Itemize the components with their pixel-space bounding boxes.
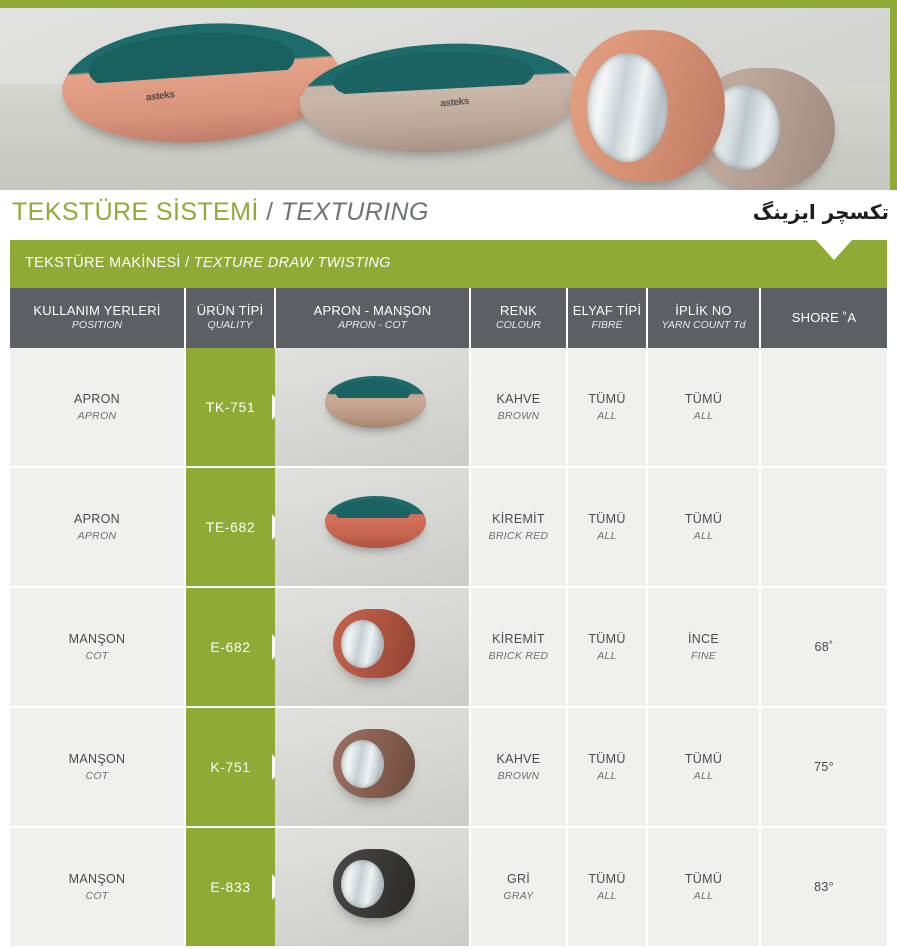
table-row: MANŞON COT E-682 KİREMİT BRIC xyxy=(10,587,887,707)
page-title-farsi: تکسچر ایزینگ xyxy=(753,200,889,224)
page-title-en: TEXTURING xyxy=(281,198,429,226)
column-header-shore-a: SHORE ˚A xyxy=(760,288,887,348)
hero-cot-roller-salmon xyxy=(570,30,725,182)
page-title-separator: / xyxy=(266,198,273,226)
cell-quality: K-751 xyxy=(185,707,275,827)
cell-colour: KİREMİT BRICK RED xyxy=(470,467,567,587)
cell-yarn-count: İNCE FINE xyxy=(647,587,760,707)
title-row: TEKSTÜRE SİSTEMİ / TEXTURING تکسچر ایزین… xyxy=(0,190,897,240)
cell-position: MANŞON COT xyxy=(10,707,185,827)
cell-fibre: TÜMÜ ALL xyxy=(567,587,647,707)
hero-banner: asteks asteks xyxy=(0,8,897,190)
cell-fibre: TÜMÜ ALL xyxy=(567,348,647,467)
apron-belt-brick-red-image xyxy=(325,496,426,548)
cell-product-image xyxy=(275,827,470,946)
hero-apron-belt-taupe: asteks xyxy=(297,37,582,160)
subtitle-bar: TEKSTÜRE MAKİNESİ / TEXTURE DRAW TWISTIN… xyxy=(10,240,887,288)
cell-quality: E-833 xyxy=(185,827,275,946)
cell-colour: GRİ GRAY xyxy=(470,827,567,946)
apron-belt-brown-image xyxy=(325,376,426,428)
cot-roller-gray-image xyxy=(333,849,414,917)
cell-shore-a: 83° xyxy=(760,827,887,946)
cell-fibre: TÜMÜ ALL xyxy=(567,707,647,827)
cot-roller-brick-red-image xyxy=(333,609,414,677)
cell-yarn-count: TÜMÜ ALL xyxy=(647,707,760,827)
cell-fibre: TÜMÜ ALL xyxy=(567,467,647,587)
subtitle-tr: TEKSTÜRE MAKİNESİ xyxy=(25,255,181,271)
subtitle-separator: / xyxy=(185,255,189,271)
table-row: MANŞON COT E-833 GRİ GRAY xyxy=(10,827,887,946)
column-header-apron-cot: APRON - MANŞON APRON - COT xyxy=(275,288,470,348)
cell-yarn-count: TÜMÜ ALL xyxy=(647,827,760,946)
product-specification-table: KULLANIM YERLERİ POSITION ÜRÜN TİPİ QUAL… xyxy=(10,288,887,946)
cell-position: APRON APRON xyxy=(10,467,185,587)
table-row: APRON APRON TK-751 KAHVE xyxy=(10,348,887,467)
cell-colour: KİREMİT BRICK RED xyxy=(470,587,567,707)
column-header-position: KULLANIM YERLERİ POSITION xyxy=(10,288,185,348)
cell-fibre: TÜMÜ ALL xyxy=(567,827,647,946)
page-title: TEKSTÜRE SİSTEMİ / TEXTURING xyxy=(12,198,429,227)
cell-colour: KAHVE BROWN xyxy=(470,348,567,467)
cell-position: MANŞON COT xyxy=(10,827,185,946)
cell-product-image xyxy=(275,348,470,467)
column-header-yarn-count: İPLİK NO YARN COUNT Td xyxy=(647,288,760,348)
table-header-row: KULLANIM YERLERİ POSITION ÜRÜN TİPİ QUAL… xyxy=(10,288,887,348)
column-header-fibre: ELYAF TİPİ FIBRE xyxy=(567,288,647,348)
hero-right-accent-strip xyxy=(890,8,897,190)
subtitle-en: TEXTURE DRAW TWISTING xyxy=(194,255,391,271)
column-header-colour: RENK COLOUR xyxy=(470,288,567,348)
cell-colour: KAHVE BROWN xyxy=(470,707,567,827)
cell-product-image xyxy=(275,707,470,827)
cell-position: APRON APRON xyxy=(10,348,185,467)
subtitle-bar-label: TEKSTÜRE MAKİNESİ / TEXTURE DRAW TWISTIN… xyxy=(25,255,391,271)
cell-product-image xyxy=(275,467,470,587)
cell-product-image xyxy=(275,587,470,707)
page-title-tr: TEKSTÜRE SİSTEMİ xyxy=(12,198,259,226)
cell-shore-a: 75° xyxy=(760,707,887,827)
cell-position: MANŞON COT xyxy=(10,587,185,707)
cell-yarn-count: TÜMÜ ALL xyxy=(647,348,760,467)
cell-quality: TE-682 xyxy=(185,467,275,587)
cell-shore-a xyxy=(760,467,887,587)
cell-yarn-count: TÜMÜ ALL xyxy=(647,467,760,587)
cell-shore-a xyxy=(760,348,887,467)
table-row: MANŞON COT K-751 KAHVE BROWN xyxy=(10,707,887,827)
top-accent-strip xyxy=(0,0,897,8)
cot-roller-brown-image xyxy=(333,729,414,797)
table-row: APRON APRON TE-682 KİREM xyxy=(10,467,887,587)
cell-quality: E-682 xyxy=(185,587,275,707)
column-header-quality: ÜRÜN TİPİ QUALITY xyxy=(185,288,275,348)
cell-shore-a: 68˚ xyxy=(760,587,887,707)
cell-quality: TK-751 xyxy=(185,348,275,467)
